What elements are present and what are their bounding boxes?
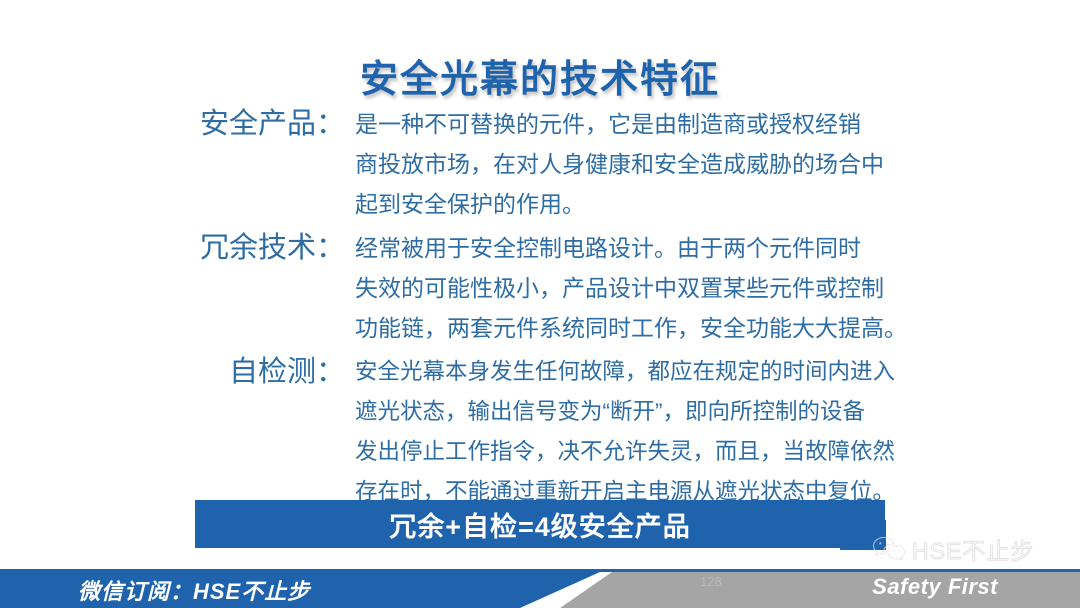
paragraph-line: 功能链，两套元件系统同时工作，安全功能大大提高。	[355, 308, 900, 348]
footer-gray-band	[560, 572, 1080, 608]
conclusion-banner: 冗余+自检=4级安全产品	[195, 500, 885, 548]
paragraph-line: 发出停止工作指令，决不允许失灵，而且，当故障依然	[355, 432, 900, 472]
footer-slogan-text: Safety First	[872, 574, 998, 600]
paragraph-block: 自检测： 安全光幕本身发生任何故障，都应在规定的时间内进入 遮光状态，输出信号变…	[190, 352, 900, 512]
paragraph-block: 安全产品： 是一种不可替换的元件，它是由制造商或授权经销 商投放市场，在对人身健…	[190, 104, 900, 224]
paragraph-line: 经常被用于安全控制电路设计。由于两个元件同时	[355, 228, 900, 268]
paragraph-line: 安全光幕本身发生任何故障，都应在规定的时间内进入	[355, 352, 900, 392]
paragraph-text: 经常被用于安全控制电路设计。由于两个元件同时 失效的可能性极小，产品设计中双置某…	[355, 228, 900, 348]
wechat-icon	[872, 536, 906, 562]
paragraph-label: 自检测：	[190, 352, 345, 392]
paragraph-label: 安全产品：	[190, 104, 345, 144]
paragraph-line: 遮光状态，输出信号变为“断开”，即向所控制的设备	[355, 392, 900, 432]
watermark: HSE不止步	[872, 532, 1034, 566]
paragraph-line: 商投放市场，在对人身健康和安全造成威胁的场合中	[355, 144, 900, 184]
watermark-text: HSE不止步	[912, 532, 1034, 566]
footer-subscribe-text: 微信订阅：HSE不止步	[78, 574, 310, 606]
page-number: 128	[700, 574, 722, 589]
paragraph-label: 冗余技术：	[190, 228, 345, 268]
paragraph-text: 安全光幕本身发生任何故障，都应在规定的时间内进入 遮光状态，输出信号变为“断开”…	[355, 352, 900, 512]
slide-canvas: 安全光幕的技术特征 安全产品： 是一种不可替换的元件，它是由制造商或授权经销 商…	[0, 0, 1080, 608]
footer-divider	[0, 569, 1080, 572]
paragraph-line: 起到安全保护的作用。	[355, 184, 900, 224]
paragraph-text: 是一种不可替换的元件，它是由制造商或授权经销 商投放市场，在对人身健康和安全造成…	[355, 104, 900, 224]
paragraph-block: 冗余技术： 经常被用于安全控制电路设计。由于两个元件同时 失效的可能性极小，产品…	[190, 228, 900, 348]
paragraph-line: 是一种不可替换的元件，它是由制造商或授权经销	[355, 104, 900, 144]
page-title: 安全光幕的技术特征	[0, 48, 1080, 103]
paragraph-line: 失效的可能性极小，产品设计中双置某些元件或控制	[355, 268, 900, 308]
slide-body: 安全产品： 是一种不可替换的元件，它是由制造商或授权经销 商投放市场，在对人身健…	[190, 104, 900, 516]
